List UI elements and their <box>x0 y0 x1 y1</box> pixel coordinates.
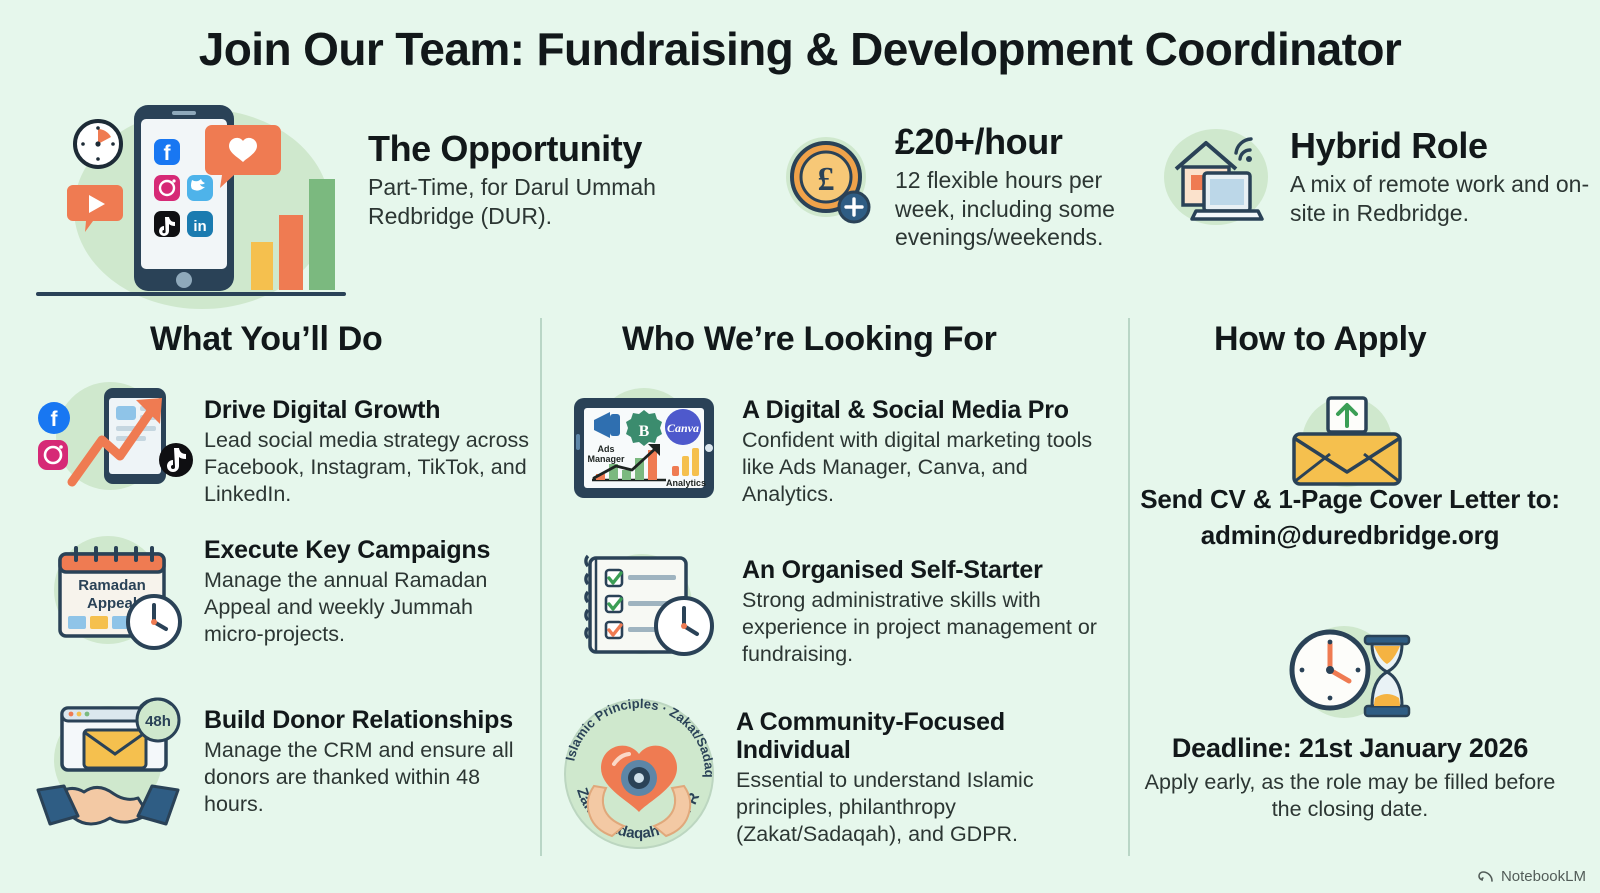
item-heading: A Digital & Social Media Pro <box>742 396 1122 424</box>
column-heading-who-we-are-looking-for: Who We’re Looking For <box>622 320 997 359</box>
tablet-analytics-tools-icon: Ads Manager B Canva <box>556 382 732 507</box>
pay-body: 12 flexible hours per week, including so… <box>895 166 1145 252</box>
item-body: Manage the annual Ramadan Appeal and wee… <box>204 567 534 648</box>
top-band-item-hybrid <box>1158 125 1278 235</box>
item-heading: An Organised Self-Starter <box>742 556 1122 584</box>
item-body: Lead social media strategy across Facebo… <box>204 427 534 508</box>
item-body: Essential to understand Islamic principl… <box>736 767 1116 848</box>
column-divider-left <box>540 318 542 856</box>
svg-text:f: f <box>164 142 172 165</box>
page-title: Join Our Team: Fundraising & Development… <box>0 22 1600 76</box>
column-heading-what-you-will-do: What You’ll Do <box>150 320 383 359</box>
opportunity-heading: The Opportunity <box>368 130 748 169</box>
list-item-digital-social-media-pro: Ads Manager B Canva <box>556 382 1126 508</box>
column-heading-how-to-apply: How to Apply <box>1214 320 1426 359</box>
list-item-drive-digital-growth: f Drive Digital Growth Lead social media… <box>28 378 538 508</box>
svg-text:Manager: Manager <box>587 454 625 464</box>
list-item-execute-key-campaigns: Ramadan Appeal Execute Key Campaigns Man… <box>28 528 538 658</box>
drive-digital-growth-text: Drive Digital Growth Lead social media s… <box>204 378 534 508</box>
svg-text:f: f <box>51 408 59 431</box>
apply-email[interactable]: admin@duredbridge.org <box>1140 520 1560 552</box>
organised-self-starter-text: An Organised Self-Starter Strong adminis… <box>742 542 1122 668</box>
opportunity-body: Part-Time, for Darul Ummah Redbridge (DU… <box>368 173 748 231</box>
top-band: f in <box>0 95 1600 295</box>
list-item-community-focused-individual: Islamic Principles · Zakat/Sadaqah Zakat… <box>548 694 1128 854</box>
notebooklm-icon <box>1479 869 1495 885</box>
top-band-text-opportunity: The Opportunity Part-Time, for Darul Umm… <box>368 130 748 230</box>
social-media-phone-illustration: f in <box>24 97 354 297</box>
house-laptop-wifi-icon <box>1158 125 1278 235</box>
item-body: Confident with digital marketing tools l… <box>742 427 1122 508</box>
header-divider-line <box>36 292 346 296</box>
ramadan-appeal-calendar-clock-icon: Ramadan Appeal <box>28 528 198 658</box>
list-item-build-donor-relationships: 48h Build Donor Relationships Manage the… <box>28 694 538 834</box>
svg-text:£: £ <box>818 161 835 198</box>
checklist-clock-icon <box>556 542 732 672</box>
clock-hourglass-icon <box>1272 618 1422 728</box>
send-cv-label: Send CV & 1-Page Cover Letter to: <box>1140 484 1560 516</box>
watermark-label: NotebookLM <box>1501 868 1586 885</box>
item-body: Strong administrative skills with experi… <box>742 587 1122 668</box>
execute-key-campaigns-text: Execute Key Campaigns Manage the annual … <box>204 528 534 648</box>
community-focused-text: A Community-Focused Individual Essential… <box>736 694 1116 848</box>
heart-in-hands-badge-icon: Islamic Principles · Zakat/Sadaqah Zakat… <box>548 694 730 854</box>
item-heading: Build Donor Relationships <box>204 706 534 734</box>
svg-text:B: B <box>639 423 650 440</box>
badge-48h-label: 48h <box>145 713 171 730</box>
item-body: Manage the CRM and ensure all donors are… <box>204 737 534 818</box>
hybrid-heading: Hybrid Role <box>1290 127 1590 166</box>
item-heading: Drive Digital Growth <box>204 396 534 424</box>
phone-growth-arrow-social-icon: f <box>28 378 198 503</box>
svg-text:Analytics: Analytics <box>666 478 706 488</box>
top-band-item-pay: £ <box>778 133 878 233</box>
calendar-label-line1: Ramadan <box>78 577 146 594</box>
svg-text:in: in <box>193 218 206 235</box>
pound-coin-plus-icon: £ <box>778 133 878 233</box>
deadline-text: Deadline: 21st January 2026 <box>1140 732 1560 765</box>
svg-text:Ads: Ads <box>597 444 614 454</box>
infographic-page: Join Our Team: Fundraising & Development… <box>0 0 1600 893</box>
apply-deadline-block: Deadline: 21st January 2026 Apply early,… <box>1140 732 1560 823</box>
top-band-text-pay: £20+/hour 12 flexible hours per week, in… <box>895 123 1145 252</box>
watermark: NotebookLM <box>1479 868 1586 885</box>
top-band-text-hybrid: Hybrid Role A mix of remote work and on-… <box>1290 127 1590 227</box>
build-donor-relationships-text: Build Donor Relationships Manage the CRM… <box>204 694 534 818</box>
handshake-email-48h-icon: 48h <box>28 694 198 834</box>
svg-text:Canva: Canva <box>667 421 699 435</box>
hybrid-body: A mix of remote work and on-site in Redb… <box>1290 170 1590 228</box>
list-item-organised-self-starter: An Organised Self-Starter Strong adminis… <box>556 542 1126 672</box>
deadline-note: Apply early, as the role may be filled b… <box>1140 769 1560 823</box>
digital-social-media-pro-text: A Digital & Social Media Pro Confident w… <box>742 382 1122 508</box>
item-heading: Execute Key Campaigns <box>204 536 534 564</box>
apply-send-block: Send CV & 1-Page Cover Letter to: admin@… <box>1140 484 1560 551</box>
envelope-upload-icon <box>1272 392 1422 492</box>
pay-heading: £20+/hour <box>895 123 1145 162</box>
item-heading: A Community-Focused Individual <box>736 708 1116 764</box>
top-band-item-opportunity: f in <box>24 97 354 297</box>
column-divider-right <box>1128 318 1130 856</box>
